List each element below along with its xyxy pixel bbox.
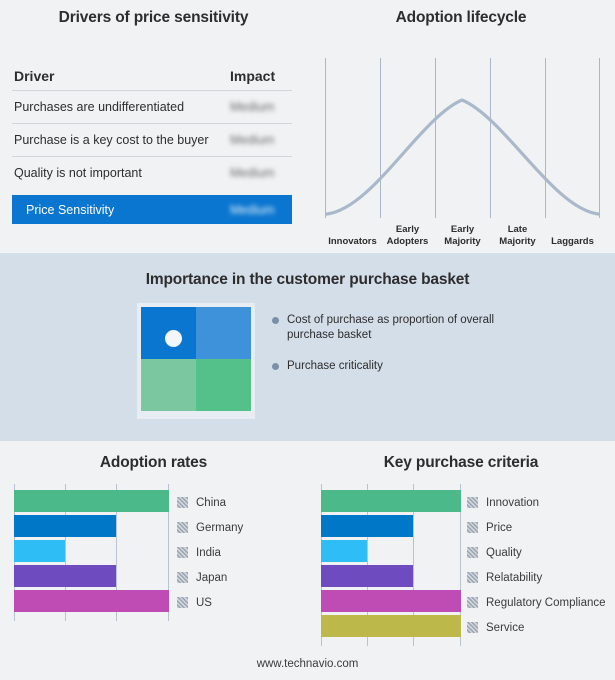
bar-row — [321, 515, 461, 537]
legend-label: Regulatory Compliance — [486, 597, 606, 609]
legend-item: Service — [467, 615, 606, 640]
legend-item: China — [177, 490, 243, 515]
quadrant-bottom-left[interactable] — [141, 359, 196, 411]
purchase-basket-panel: Importance in the customer purchase bask… — [0, 253, 615, 441]
column-header-driver: Driver — [12, 68, 230, 84]
bottom-section: Adoption rates China Germany India Japan… — [0, 441, 615, 680]
impact-value: Medium — [230, 203, 292, 217]
adoption-rates-title: Adoption rates — [0, 454, 307, 472]
legend-swatch-icon — [467, 622, 478, 633]
bar-innovation[interactable] — [321, 490, 461, 512]
bar-us[interactable] — [14, 590, 169, 612]
basket-title: Importance in the customer purchase bask… — [0, 271, 615, 289]
legend-swatch-icon — [177, 572, 188, 583]
legend-swatch-icon — [467, 572, 478, 583]
legend-item: Price — [467, 515, 606, 540]
drivers-table: Driver Impact Purchases are undifferenti… — [12, 62, 292, 224]
legend-label: India — [196, 547, 221, 559]
lifecycle-chart: Innovators Early Adopters Early Majority… — [325, 58, 600, 233]
legend-item: Germany — [177, 515, 243, 540]
driver-label: Price Sensitivity — [24, 203, 230, 217]
legend-item: Quality — [467, 540, 606, 565]
basket-legend: Cost of purchase as proportion of overal… — [272, 313, 572, 391]
legend-label: Innovation — [486, 497, 539, 509]
legend-label: Price — [486, 522, 512, 534]
bullet-dot-icon — [272, 317, 279, 324]
bar-row — [321, 565, 461, 587]
bell-curve-line — [325, 58, 600, 220]
lifecycle-segment-early-adopters: Early Adopters — [380, 213, 435, 249]
bar-row — [14, 540, 169, 562]
legend-item: Japan — [177, 565, 243, 590]
quadrant-bottom-right[interactable] — [196, 359, 251, 411]
bar-row — [321, 540, 461, 562]
legend-swatch-icon — [177, 597, 188, 608]
quadrant-card — [137, 303, 255, 419]
legend-label: Germany — [196, 522, 243, 534]
bar-row — [321, 590, 461, 612]
legend-label: Purchase criticality — [287, 359, 383, 374]
legend-label: US — [196, 597, 212, 609]
table-row[interactable]: Quality is not important Medium — [12, 157, 292, 189]
criteria-title: Key purchase criteria — [307, 454, 615, 472]
top-section: Drivers of price sensitivity Driver Impa… — [0, 0, 615, 253]
table-header-row: Driver Impact — [12, 62, 292, 91]
table-row-highlighted[interactable]: Price Sensitivity Medium — [12, 195, 292, 224]
bar-row — [14, 490, 169, 512]
lifecycle-segment-early-majority: Early Majority — [435, 213, 490, 249]
quadrant-grid — [141, 307, 251, 411]
bar-india[interactable] — [14, 540, 65, 562]
position-marker-dot — [165, 330, 182, 347]
legend-swatch-icon — [467, 547, 478, 558]
legend-swatch-icon — [467, 497, 478, 508]
bar-china[interactable] — [14, 490, 169, 512]
impact-value: Medium — [230, 166, 292, 180]
bar-regulatory-compliance[interactable] — [321, 590, 461, 612]
bar-row — [14, 590, 169, 612]
adoption-rates-legend: China Germany India Japan US — [177, 490, 243, 615]
drivers-title: Drivers of price sensitivity — [0, 9, 307, 27]
lifecycle-segment-laggards: Laggards — [545, 213, 600, 249]
legend-item: Cost of purchase as proportion of overal… — [272, 313, 572, 342]
bar-price[interactable] — [321, 515, 413, 537]
bar-quality[interactable] — [321, 540, 367, 562]
lifecycle-labels: Innovators Early Adopters Early Majority… — [325, 213, 600, 249]
bar-row — [14, 515, 169, 537]
legend-item: Innovation — [467, 490, 606, 515]
column-header-impact: Impact — [230, 68, 292, 84]
bar-row — [321, 490, 461, 512]
table-row[interactable]: Purchases are undifferentiated Medium — [12, 91, 292, 124]
bar-relatability[interactable] — [321, 565, 413, 587]
lifecycle-segment-innovators: Innovators — [325, 213, 380, 249]
legend-label: Japan — [196, 572, 227, 584]
impact-value: Medium — [230, 133, 292, 147]
bar-row — [321, 615, 461, 637]
legend-item: US — [177, 590, 243, 615]
legend-item: Regulatory Compliance — [467, 590, 606, 615]
legend-label: China — [196, 497, 226, 509]
bar-service[interactable] — [321, 615, 461, 637]
drivers-panel: Drivers of price sensitivity Driver Impa… — [0, 0, 307, 253]
lifecycle-title: Adoption lifecycle — [307, 9, 615, 27]
legend-label: Quality — [486, 547, 522, 559]
driver-label: Purchase is a key cost to the buyer — [12, 133, 230, 147]
bar-germany[interactable] — [14, 515, 116, 537]
bar-group — [14, 484, 169, 621]
adoption-lifecycle-panel: Adoption lifecycle Innovators Early Adop… — [307, 0, 615, 253]
footer-url: www.technavio.com — [0, 658, 615, 670]
legend-swatch-icon — [467, 597, 478, 608]
legend-swatch-icon — [177, 522, 188, 533]
driver-label: Purchases are undifferentiated — [12, 100, 230, 114]
adoption-rates-panel: Adoption rates China Germany India Japan… — [0, 441, 307, 680]
adoption-rates-chart — [14, 484, 169, 621]
legend-item: India — [177, 540, 243, 565]
impact-value: Medium — [230, 100, 292, 114]
bar-japan[interactable] — [14, 565, 116, 587]
legend-label: Cost of purchase as proportion of overal… — [287, 313, 502, 342]
legend-item: Relatability — [467, 565, 606, 590]
lifecycle-segment-late-majority: Late Majority — [490, 213, 545, 249]
criteria-legend: Innovation Price Quality Relatability Re… — [467, 490, 606, 640]
bar-row — [14, 565, 169, 587]
quadrant-top-right[interactable] — [196, 307, 251, 359]
key-purchase-criteria-panel: Key purchase criteria Innovation Price Q… — [307, 441, 615, 680]
criteria-chart — [321, 484, 461, 646]
legend-label: Service — [486, 622, 524, 634]
bar-group — [321, 484, 461, 646]
legend-swatch-icon — [177, 547, 188, 558]
legend-swatch-icon — [467, 522, 478, 533]
table-row[interactable]: Purchase is a key cost to the buyer Medi… — [12, 124, 292, 157]
legend-label: Relatability — [486, 572, 542, 584]
bullet-dot-icon — [272, 363, 279, 370]
legend-item: Purchase criticality — [272, 359, 572, 374]
legend-swatch-icon — [177, 497, 188, 508]
driver-label: Quality is not important — [12, 166, 230, 180]
